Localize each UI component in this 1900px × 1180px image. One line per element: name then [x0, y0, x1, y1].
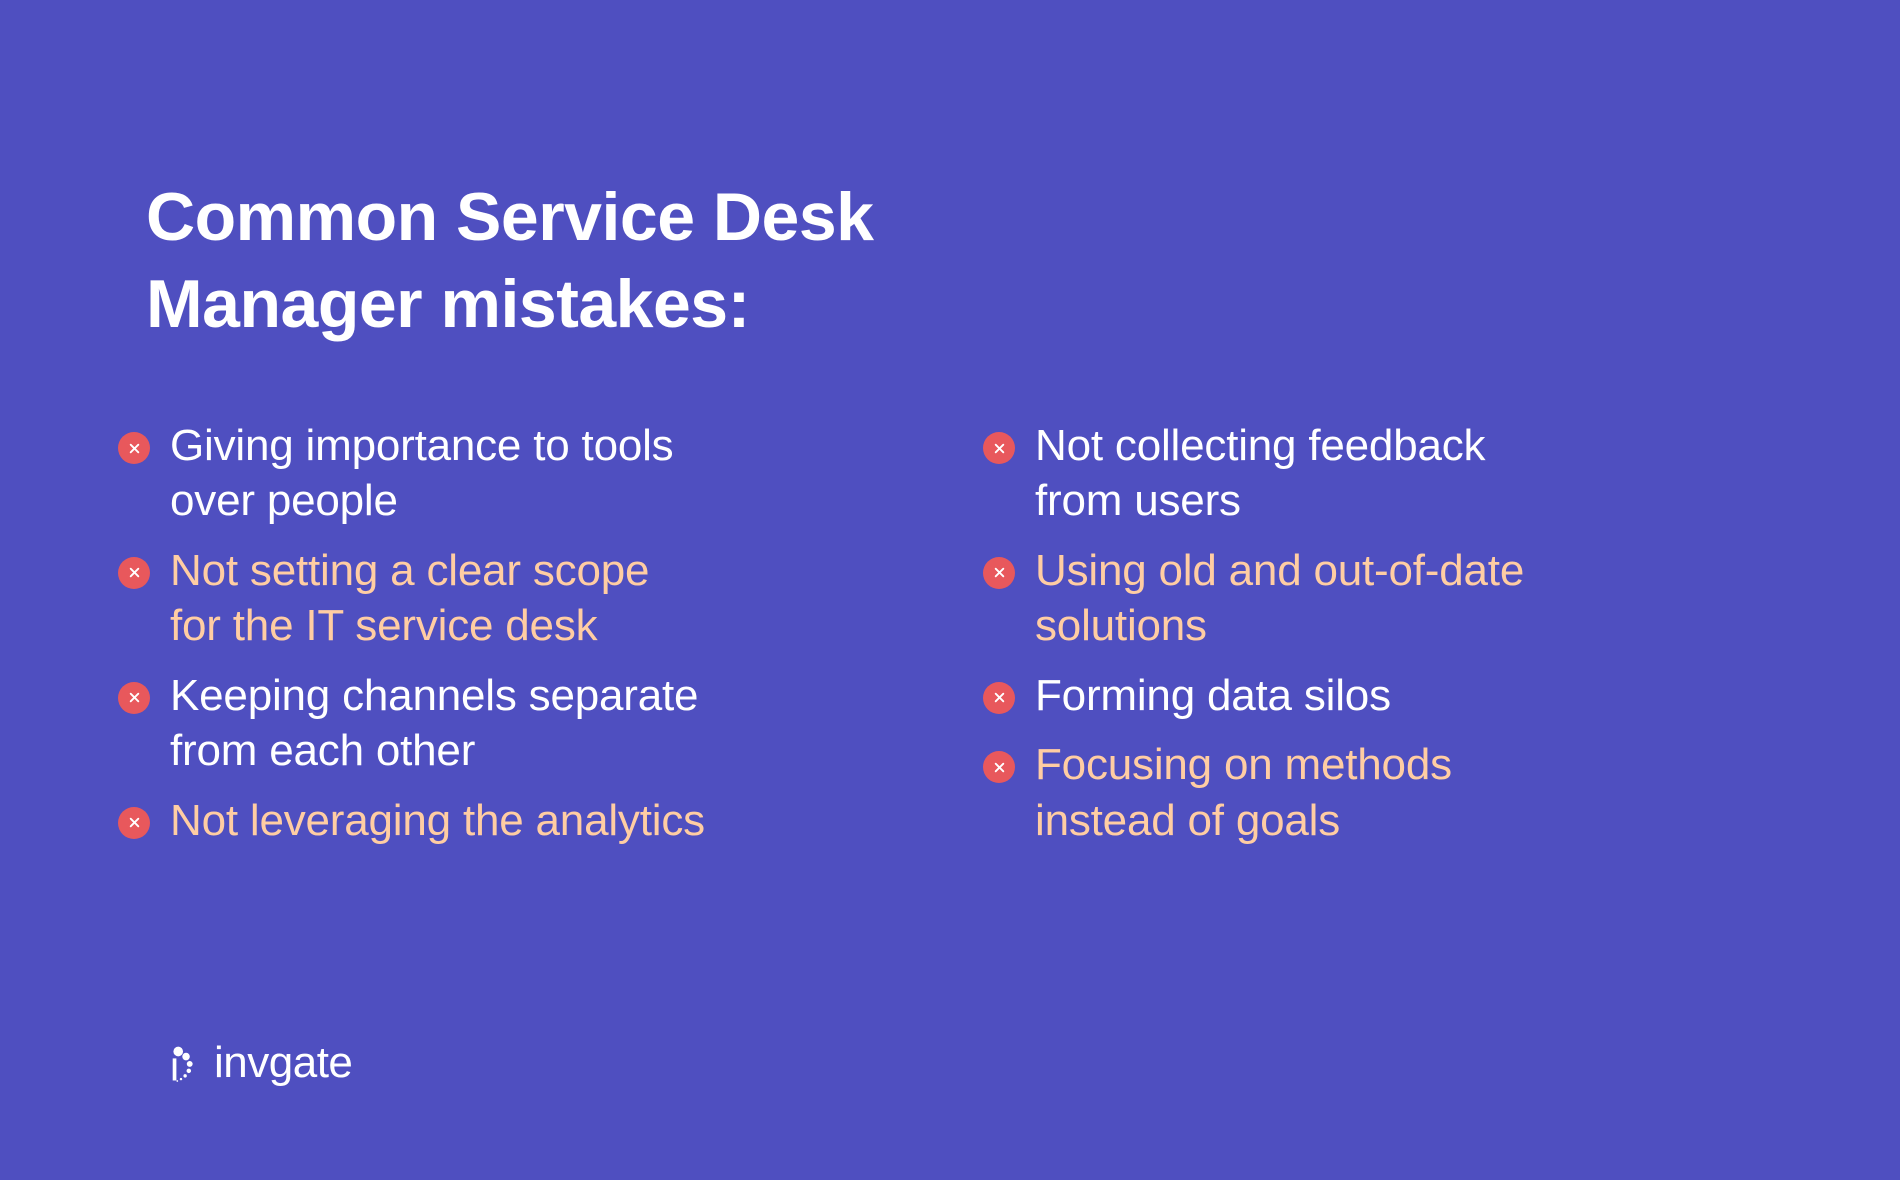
list-item-label: Focusing on methods instead of goals	[1035, 737, 1803, 848]
circle-x-icon	[983, 751, 1015, 783]
list-item-label: Not setting a clear scope for the IT ser…	[170, 543, 938, 654]
circle-x-icon	[118, 432, 150, 464]
mistakes-column-left: Giving importance to tools over peopleNo…	[118, 418, 938, 862]
invgate-logo-mark-icon	[152, 1040, 198, 1086]
circle-x-icon	[118, 682, 150, 714]
list-item-label: Forming data silos	[1035, 668, 1803, 723]
list-item: Not leveraging the analytics	[118, 793, 938, 848]
list-item: Giving importance to tools over people	[118, 418, 938, 529]
circle-x-icon	[983, 682, 1015, 714]
list-item-label: Not collecting feedback from users	[1035, 418, 1803, 529]
mistakes-columns: Giving importance to tools over peopleNo…	[0, 418, 1900, 862]
mistakes-column-right: Not collecting feedback from usersUsing …	[983, 418, 1803, 862]
list-item: Keeping channels separate from each othe…	[118, 668, 938, 779]
circle-x-icon	[983, 432, 1015, 464]
list-item-label: Not leveraging the analytics	[170, 793, 938, 848]
circle-x-icon	[983, 557, 1015, 589]
list-item: Not setting a clear scope for the IT ser…	[118, 543, 938, 654]
list-item: Not collecting feedback from users	[983, 418, 1803, 529]
list-item-label: Giving importance to tools over people	[170, 418, 938, 529]
page-title: Common Service Desk Manager mistakes:	[146, 174, 1246, 348]
brand-logo: invgate	[152, 1040, 352, 1086]
list-item: Using old and out-of-date solutions	[983, 543, 1803, 654]
list-item: Forming data silos	[983, 668, 1803, 723]
circle-x-icon	[118, 557, 150, 589]
invgate-wordmark: invgate	[214, 1041, 352, 1085]
list-item-label: Keeping channels separate from each othe…	[170, 668, 938, 779]
list-item-label: Using old and out-of-date solutions	[1035, 543, 1803, 654]
slide-canvas: Common Service Desk Manager mistakes: Gi…	[0, 0, 1900, 1180]
circle-x-icon	[118, 807, 150, 839]
list-item: Focusing on methods instead of goals	[983, 737, 1803, 848]
